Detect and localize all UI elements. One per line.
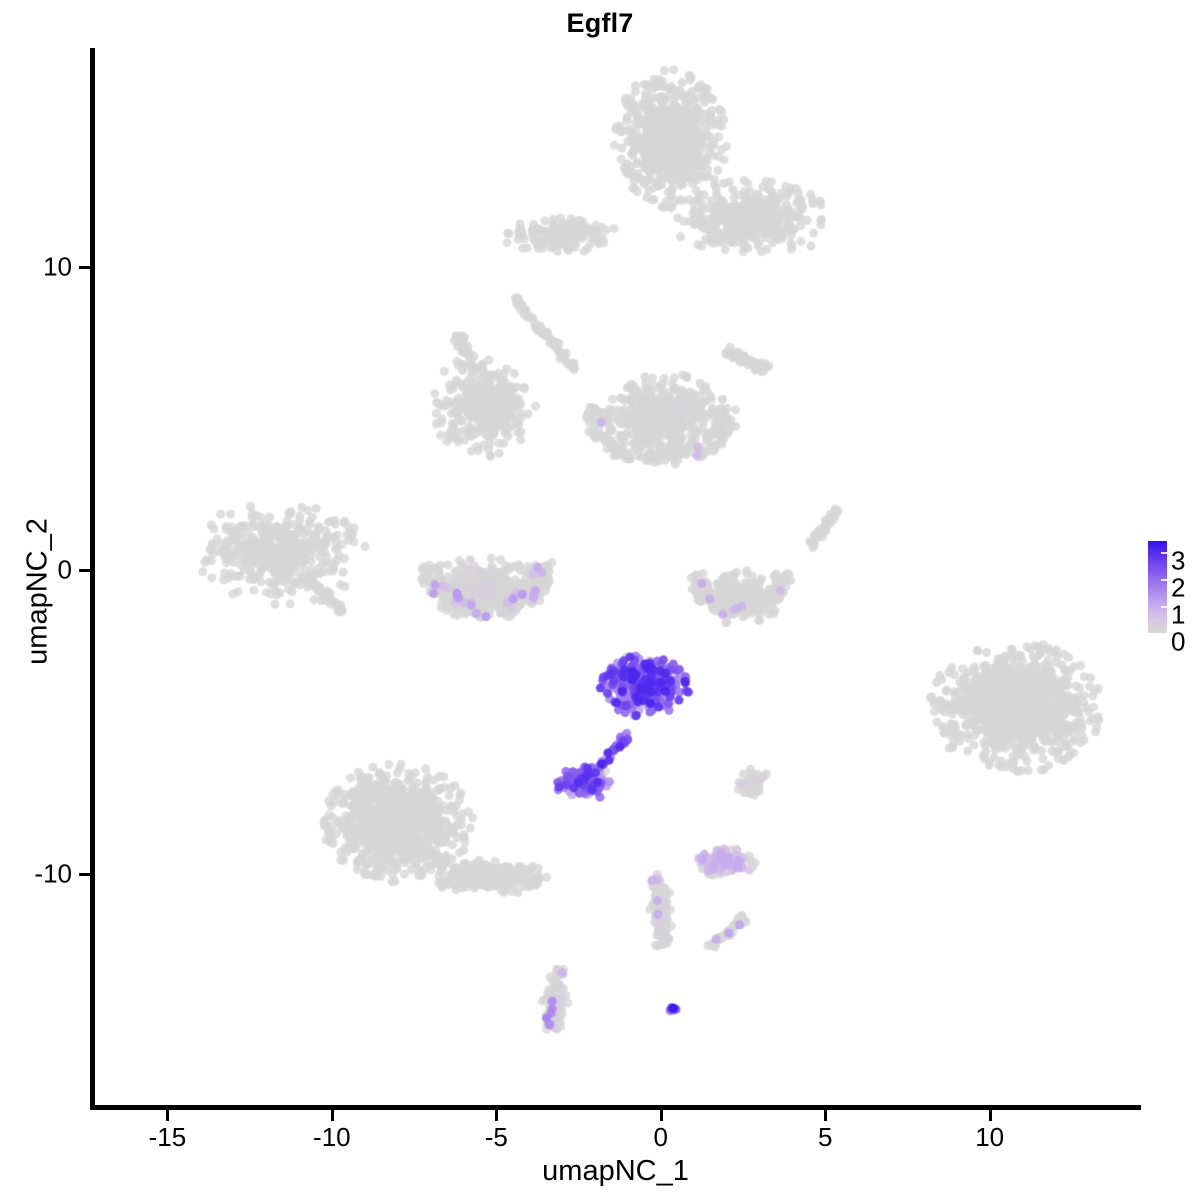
x-tick-mark [660,1110,663,1121]
x-tick-label: 10 [975,1122,1004,1153]
y-tick-mark [79,569,90,572]
y-tick-label: 10 [43,251,72,282]
x-tick-label: 0 [654,1122,668,1153]
y-tick-label: -10 [34,859,72,890]
y-tick-mark [79,873,90,876]
x-tick-label: -10 [313,1122,351,1153]
x-tick-label: 5 [818,1122,832,1153]
colorbar-tick [1161,552,1167,554]
page-title: Egfl7 [0,8,1200,39]
x-axis-label: umapNC_1 [90,1155,1141,1188]
colorbar-gradient [1148,541,1167,633]
umap-feature-plot: Egfl7 -15-10-50510 100-10 umapNC_1 umapN… [0,0,1200,1200]
colorbar-tick [1161,606,1167,608]
x-tick-mark [166,1110,169,1121]
colorbar-tick [1161,579,1167,581]
color-legend: 3210 [1148,541,1198,641]
y-axis-line [90,48,95,1110]
x-tick-label: -15 [149,1122,187,1153]
x-tick-mark [824,1110,827,1121]
colorbar-tick [1161,633,1167,635]
y-tick-mark [79,266,90,269]
x-tick-mark [989,1110,992,1121]
colorbar-label: 0 [1171,627,1185,658]
scatter-plot-area [95,48,1141,1105]
x-tick-label: -5 [485,1122,508,1153]
x-tick-mark [495,1110,498,1121]
scatter-points-canvas [95,48,1141,1105]
x-tick-mark [331,1110,334,1121]
x-axis-line [90,1105,1141,1110]
y-axis-label: umapNC_2 [22,462,55,722]
y-tick-label: 0 [58,555,72,586]
